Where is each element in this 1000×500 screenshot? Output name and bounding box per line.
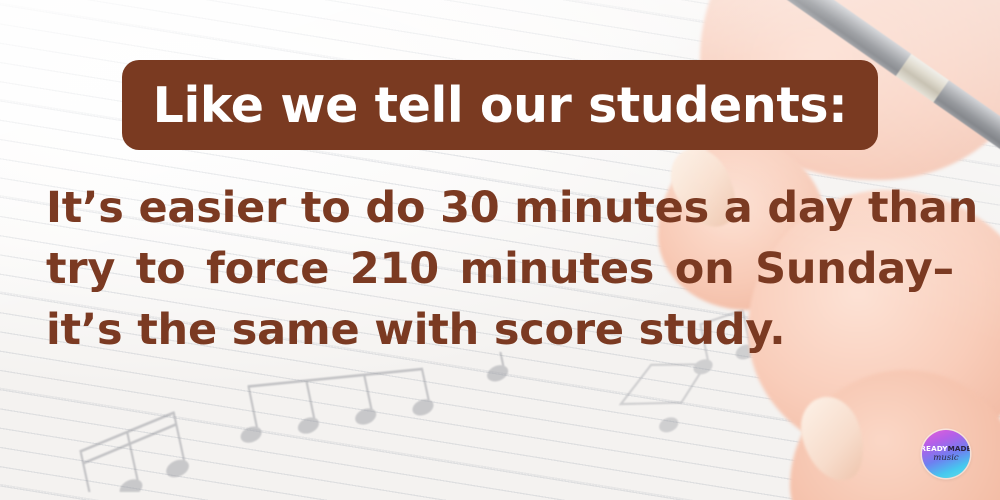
quote-graphic-canvas: Like we tell our students: It’s easier t… (0, 0, 1000, 500)
quote-word: on (675, 239, 735, 300)
heading-text: Like we tell our students: (153, 81, 848, 130)
quote-word: Sunday– (755, 239, 954, 300)
music-notes-left-icon (38, 352, 598, 492)
quote-word: force (206, 239, 329, 300)
quote-word: minutes (460, 239, 655, 300)
quote-line-1: It’s easier to do 30 minutes a day than (46, 178, 954, 239)
quote-word: to (136, 239, 186, 300)
watermark-badge: READYMADE music (922, 430, 970, 478)
watermark-script: music (933, 454, 958, 463)
watermark-brand-made: MADE (948, 444, 970, 453)
quote-word: try (46, 239, 115, 300)
quote-line-3: it’s the same with score study. (46, 300, 954, 361)
quote-line-2: try to force 210 minutes on Sunday– (46, 239, 954, 300)
watermark-brand-ready: READY (922, 444, 948, 453)
heading-banner: Like we tell our students: (122, 60, 878, 150)
watermark-brand: READYMADE (922, 445, 970, 452)
quote-word: 210 (350, 239, 439, 300)
quote-body: It’s easier to do 30 minutes a day than … (46, 178, 954, 361)
